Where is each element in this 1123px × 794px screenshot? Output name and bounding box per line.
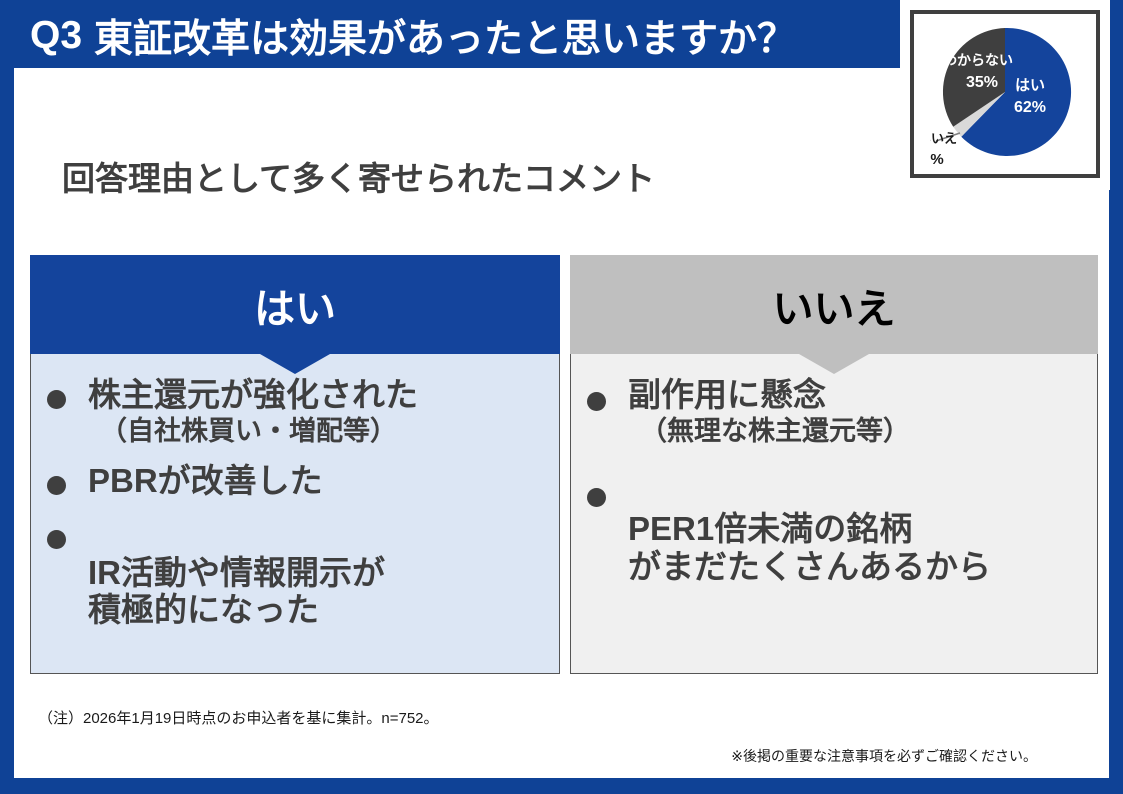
list-item: 副作用に懸念 （無理な株主還元等） bbox=[587, 376, 1081, 446]
slide-root: Q3 東証改革は効果があったと思いますか？ はい 62% わからない 35% い… bbox=[0, 0, 1123, 794]
list-item-main: PER1倍未満の銘柄 がまだたくさんあるから bbox=[628, 510, 991, 585]
bullet-dot-icon bbox=[587, 488, 606, 507]
column-yes: はい 株主還元が強化された （自社株買い・増配等） PBRが改善した bbox=[30, 255, 560, 674]
list-item-main: PBRが改善した bbox=[88, 462, 323, 499]
list-item: PBRが改善した bbox=[47, 462, 543, 500]
column-no-body: 副作用に懸念 （無理な株主還元等） PER1倍未満の銘柄 がまだたくさんあるから bbox=[570, 354, 1098, 674]
section-heading: 回答理由として多く寄せられたコメント bbox=[62, 152, 655, 200]
list-item-text: PER1倍未満の銘柄 がまだたくさんあるから bbox=[628, 472, 991, 585]
pie-value-no: 3% bbox=[930, 151, 944, 168]
column-yes-header-label: はい bbox=[254, 275, 336, 335]
disclaimer-note: ※後掲の重要な注意事項を必ずご確認ください。 bbox=[731, 746, 1037, 766]
list-item-main: 副作用に懸念 bbox=[628, 376, 826, 413]
list-item: 株主還元が強化された （自社株買い・増配等） bbox=[47, 376, 543, 446]
pie-chart-card: はい 62% わからない 35% いいえ 3% bbox=[910, 10, 1100, 178]
chevron-down-icon bbox=[799, 354, 869, 374]
pie-label-yes: はい bbox=[1015, 77, 1045, 94]
question-number: Q3 bbox=[30, 14, 82, 58]
pie-chart-svg: はい 62% わからない 35% いいえ 3% bbox=[930, 20, 1080, 168]
footnote: （注）2026年1月19日時点のお申込者を基に集計。n=752。 bbox=[38, 707, 439, 728]
frame-bottom-border bbox=[0, 778, 1123, 794]
column-yes-body: 株主還元が強化された （自社株買い・増配等） PBRが改善した IR活動や情報開… bbox=[30, 354, 560, 674]
bullet-dot-icon bbox=[47, 476, 66, 495]
column-no-header-label: いいえ bbox=[773, 275, 896, 335]
list-item-text: IR活動や情報開示が 積極的になった bbox=[88, 516, 385, 629]
list-item-sub: （自社株買い・増配等） bbox=[100, 416, 418, 447]
question-text: 東証改革は効果があったと思いますか？ bbox=[94, 8, 796, 64]
list-item-text: 副作用に懸念 （無理な株主還元等） bbox=[628, 376, 910, 446]
list-item: PER1倍未満の銘柄 がまだたくさんあるから bbox=[587, 472, 1081, 585]
pie-chart: はい 62% わからない 35% いいえ 3% bbox=[914, 14, 1096, 174]
column-no: いいえ 副作用に懸念 （無理な株主還元等） PER1倍未満の銘柄 がまだたくさん… bbox=[570, 255, 1098, 674]
list-item-main: 株主還元が強化された bbox=[88, 376, 418, 413]
column-no-header: いいえ bbox=[570, 255, 1098, 354]
list-item: IR活動や情報開示が 積極的になった bbox=[47, 516, 543, 629]
bullet-dot-icon bbox=[47, 530, 66, 549]
bullet-dot-icon bbox=[587, 392, 606, 411]
column-yes-header: はい bbox=[30, 255, 560, 354]
frame-right-border bbox=[1109, 0, 1123, 794]
chevron-down-icon bbox=[260, 354, 330, 374]
pie-label-unknown: わからない bbox=[943, 52, 1013, 68]
pie-label-no: いいえ bbox=[930, 131, 957, 146]
list-item-sub: （無理な株主還元等） bbox=[640, 416, 910, 447]
pie-value-yes: 62% bbox=[1014, 99, 1046, 116]
list-item-text: PBRが改善した bbox=[88, 462, 323, 500]
page-title: Q3 東証改革は効果があったと思いますか？ bbox=[30, 12, 796, 60]
list-item-text: 株主還元が強化された （自社株買い・増配等） bbox=[88, 376, 418, 446]
bullet-dot-icon bbox=[47, 390, 66, 409]
pie-value-unknown: 35% bbox=[966, 74, 998, 91]
list-item-main: IR活動や情報開示が 積極的になった bbox=[88, 554, 385, 629]
frame-left-border bbox=[0, 0, 14, 794]
